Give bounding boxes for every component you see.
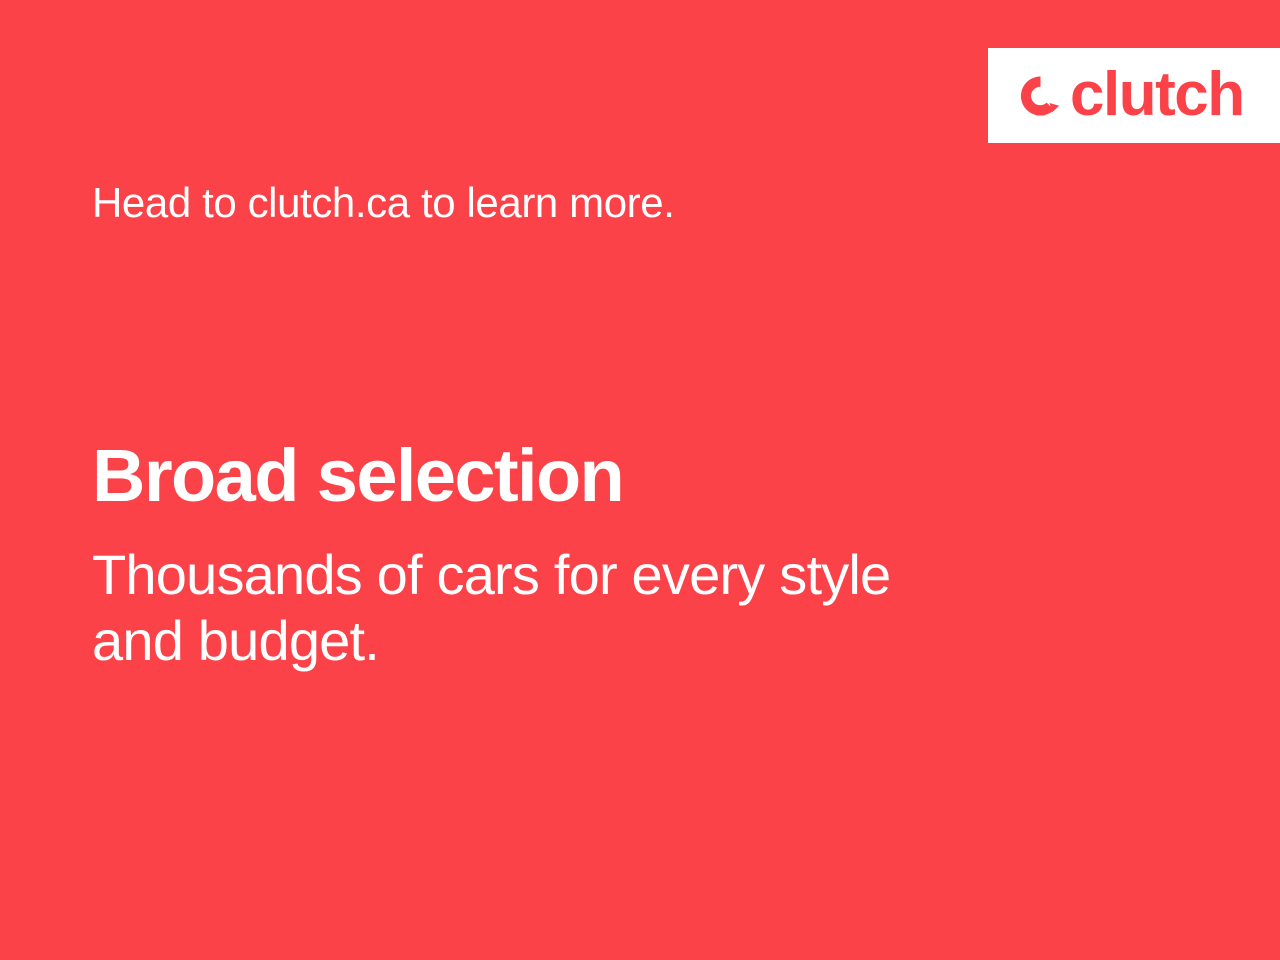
headline: Broad selection <box>92 437 623 515</box>
promo-slide: clutch Head to clutch.ca to learn more. … <box>0 0 1280 960</box>
subheadline: Thousands of cars for every style and bu… <box>92 542 1052 673</box>
clutch-c-mark-icon <box>1014 72 1066 124</box>
brand-wordmark: clutch <box>1070 64 1244 126</box>
subheadline-line-1: Thousands of cars for every style <box>92 542 1052 608</box>
brand-logo-panel: clutch <box>988 48 1280 143</box>
eyebrow-text: Head to clutch.ca to learn more. <box>92 178 675 228</box>
clutch-logo-lockup: clutch <box>1014 65 1244 127</box>
subheadline-line-2: and budget. <box>92 608 1052 674</box>
